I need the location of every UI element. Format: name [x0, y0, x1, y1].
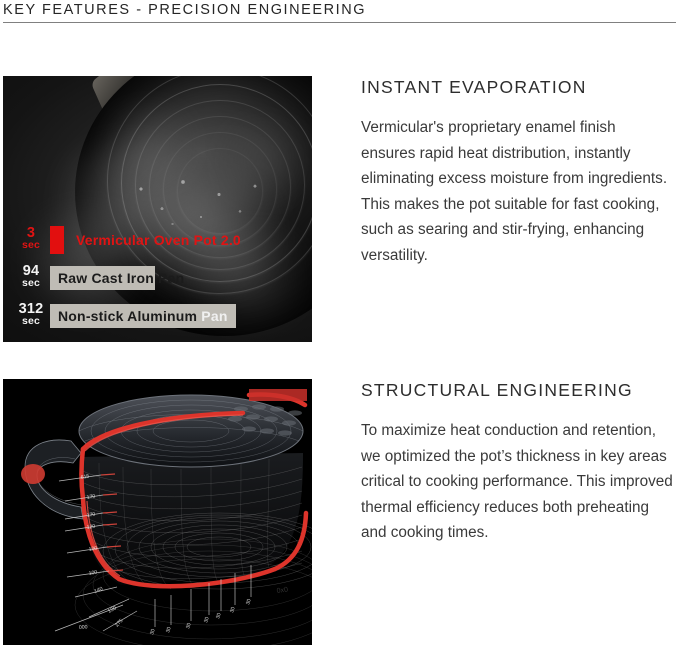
feature-copy-structural-engineering: STRUCTURAL ENGINEERING To maximize heat …: [361, 379, 673, 546]
page-title: KEY FEATURES - PRECISION ENGINEERING: [3, 0, 676, 19]
chart-bar-label-inside: Non-stick Aluminum: [58, 308, 197, 324]
chart-bar: Raw Cast Iron Pan: [50, 266, 298, 290]
bar-value-number: 3: [12, 228, 50, 240]
chart-bar-row: 3 sec Vermicular Oven Pot 2.0: [12, 223, 304, 256]
bar-value-unit: sec: [12, 278, 50, 290]
feature-section-structural-engineering: 615 170 170 120 100 100 140 130 000 275 …: [0, 379, 679, 646]
bar-value-label: 3 sec: [12, 228, 50, 251]
chart-bar-label: Non-stick Aluminum Pan: [50, 308, 228, 324]
chart-bar-row: 94 sec Raw Cast Iron Pan: [12, 261, 304, 294]
bar-value-unit: sec: [12, 316, 50, 328]
chart-bar-row: 312 sec Non-stick Aluminum Pan: [12, 299, 304, 332]
chart-bar-label: Raw Cast Iron Pan: [50, 270, 184, 286]
cad-wireframe-pot-diagram: 615 170 170 120 100 100 140 130 000 275 …: [3, 379, 312, 645]
chart-bar-fill: [50, 226, 64, 254]
chart-bar: Vermicular Oven Pot 2.0: [50, 226, 298, 254]
bar-value-number: 94: [12, 266, 50, 278]
feature-heading: INSTANT EVAPORATION: [361, 76, 673, 98]
feature-heading: STRUCTURAL ENGINEERING: [361, 379, 673, 401]
feature-body-text: To maximize heat conduction and retentio…: [361, 418, 673, 546]
bar-value-unit: sec: [12, 240, 50, 252]
feature-body-text: Vermicular's proprietary enamel finish e…: [361, 115, 673, 269]
feature-image-instant-evaporation: 3 sec Vermicular Oven Pot 2.0 94 sec: [3, 76, 312, 342]
chart-bar: Non-stick Aluminum Pan: [50, 304, 298, 328]
bar-value-label: 94 sec: [12, 266, 50, 289]
feature-copy-instant-evaporation: INSTANT EVAPORATION Vermicular's proprie…: [361, 76, 673, 269]
handle-accent-highlight: [21, 464, 45, 484]
header-divider: [3, 22, 676, 23]
chart-bar-label: Vermicular Oven Pot 2.0: [64, 232, 241, 248]
bar-value-label: 312 sec: [12, 304, 50, 327]
feature-section-instant-evaporation: 3 sec Vermicular Oven Pot 2.0 94 sec: [0, 76, 679, 343]
svg-text:000: 000: [79, 624, 88, 631]
bar-value-number: 312: [12, 304, 50, 316]
cad-wireframe-svg: 615 170 170 120 100 100 140 130 000 275 …: [3, 379, 312, 645]
lid-knob-accent: [249, 389, 307, 401]
page-header: KEY FEATURES - PRECISION ENGINEERING: [3, 0, 676, 23]
chart-bar-label-outside: Pan: [197, 308, 227, 324]
feature-image-structural-engineering: 615 170 170 120 100 100 140 130 000 275 …: [3, 379, 312, 645]
evaporation-comparison-chart: 3 sec Vermicular Oven Pot 2.0 94 sec: [12, 223, 304, 332]
steaming-pot-photo: 3 sec Vermicular Oven Pot 2.0 94 sec: [3, 76, 312, 342]
